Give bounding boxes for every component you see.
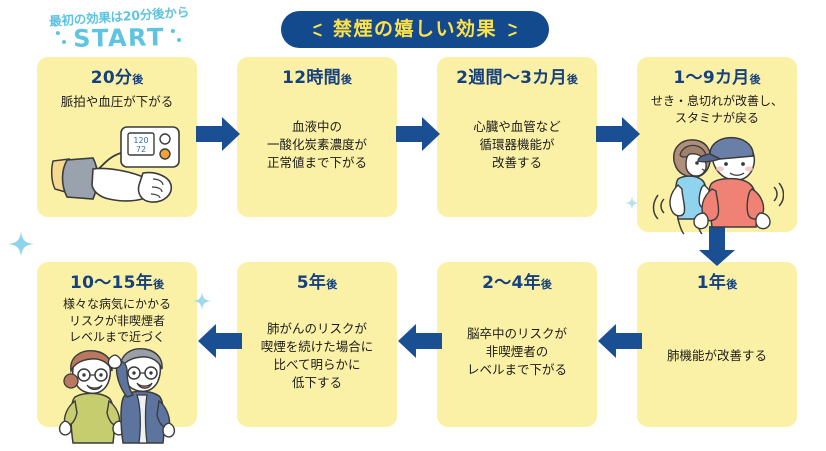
card-body: 様々な病気にかかる リスクが非喫煙者 レベルまで近づく	[37, 296, 197, 346]
arrow-left-icon	[398, 322, 442, 360]
title-banner: 禁煙の嬉しい効果	[281, 11, 549, 48]
page-title: 禁煙の嬉しい効果	[333, 20, 497, 39]
start-marker: 最初の効果は20分後から START	[34, 6, 204, 50]
card-heading-suffix: 後	[726, 278, 737, 291]
card-body: 心臓や血管など 循環器機能が 改善する	[437, 118, 597, 172]
card-heading: 1年後	[637, 275, 797, 292]
card-body: 血液中の 一酸化炭素濃度が 正常値まで下がる	[237, 118, 397, 172]
card-heading: 20分後	[37, 70, 197, 87]
card-heading: 1〜9カ月後	[637, 70, 797, 87]
card-heading-suffix: 後	[567, 73, 578, 86]
card-heading-suffix: 後	[541, 278, 552, 291]
card-heading-suffix: 後	[153, 278, 164, 291]
sparkle-icon	[8, 231, 34, 257]
arrow-right-icon	[396, 115, 440, 153]
card-body: 脈拍や血圧が下がる	[37, 93, 197, 111]
card-heading: 2〜4年後	[437, 275, 597, 292]
blood-pressure-monitor-illustration: 120 72	[47, 123, 187, 215]
card-heading-main: 2週間〜3カ月	[456, 68, 567, 88]
svg-text:72: 72	[136, 145, 146, 154]
card-heading-main: 5年	[297, 273, 326, 293]
card-heading-main: 20分	[91, 68, 133, 88]
card-body: 脳卒中のリスクが 非喫煙者の レベルまで下がる	[437, 325, 597, 379]
arrow-right-icon	[196, 115, 240, 153]
arrow-left-icon	[198, 322, 242, 360]
card-body: 肺がんのリスクが 喫煙を続けた場合に 比べて明らかに 低下する	[237, 320, 397, 393]
start-left-dots-icon	[55, 28, 68, 50]
card-heading-suffix: 後	[750, 73, 761, 86]
banner-right-sparkle-icon	[506, 20, 519, 40]
start-right-dots-icon	[170, 26, 183, 48]
infographic-poster: 最初の効果は20分後から START 禁煙の嬉しい効果 20分後 脈拍や血圧が下…	[0, 0, 826, 451]
timeline-card[interactable]: 2〜4年後 脳卒中のリスクが 非喫煙者の レベルまで下がる	[437, 262, 597, 427]
arrow-left-icon	[598, 322, 642, 360]
svg-text:120: 120	[133, 136, 148, 145]
banner-left-sparkle-icon	[311, 20, 324, 40]
timeline-card[interactable]: 12時間後 血液中の 一酸化炭素濃度が 正常値まで下がる	[237, 57, 397, 217]
timeline-card[interactable]: 2週間〜3カ月後 心臓や血管など 循環器機能が 改善する	[437, 57, 597, 217]
timeline-card[interactable]: 1年後 肺機能が改善する	[637, 262, 797, 427]
card-heading-main: 1年	[697, 273, 726, 293]
card-heading-main: 2〜4年	[482, 273, 541, 293]
arrow-right-icon	[596, 115, 640, 153]
card-body: 肺機能が改善する	[637, 347, 797, 365]
card-heading-main: 12時間	[282, 68, 341, 88]
card-heading: 10〜15年後	[37, 275, 197, 292]
start-word-row: START	[34, 25, 204, 52]
card-heading-suffix: 後	[326, 278, 337, 291]
start-label: START	[73, 25, 165, 51]
joggers-illustration	[652, 133, 784, 235]
card-body: せき・息切れが改善し、 スタミナが戻る	[637, 93, 797, 126]
card-heading-suffix: 後	[132, 73, 143, 86]
card-heading-suffix: 後	[341, 73, 352, 86]
card-heading: 5年後	[237, 275, 397, 292]
elderly-couple-illustration	[57, 345, 181, 445]
card-heading-main: 1〜9カ月	[673, 68, 749, 88]
card-heading: 12時間後	[237, 70, 397, 87]
timeline-card[interactable]: 5年後 肺がんのリスクが 喫煙を続けた場合に 比べて明らかに 低下する	[237, 262, 397, 427]
card-heading: 2週間〜3カ月後	[437, 70, 597, 87]
card-heading-main: 10〜15年	[70, 273, 153, 293]
